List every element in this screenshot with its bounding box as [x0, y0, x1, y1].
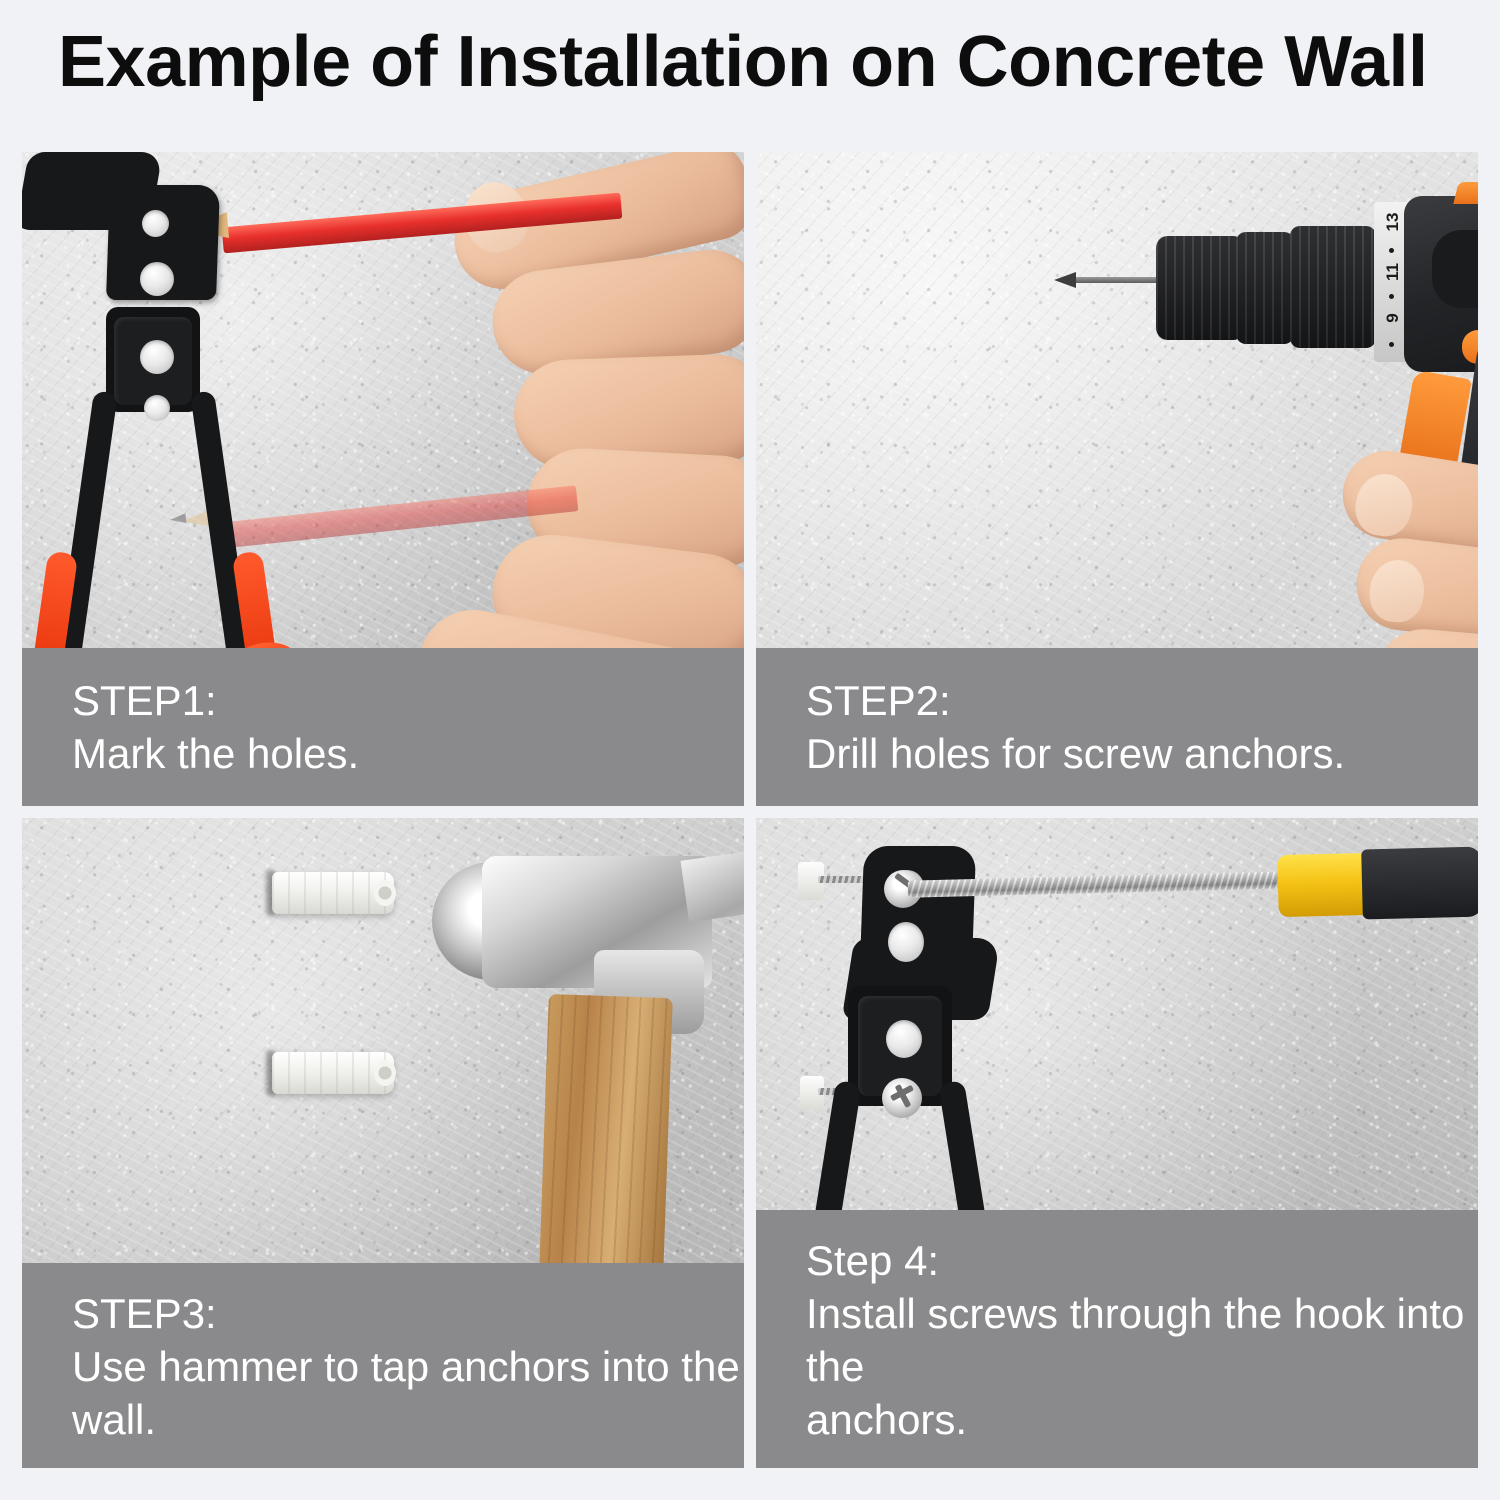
drill-chuck-ring [1236, 232, 1294, 344]
screwdriver-handle-ferrule [1277, 853, 1370, 917]
step-2-label: STEP2: [806, 674, 1478, 727]
step-panel-3: STEP3: Use hammer to tap anchors into th… [22, 818, 744, 1468]
collar-number-9: 9 [1383, 301, 1403, 335]
step-4-text-line-1: Install screws through the hook into the [806, 1287, 1478, 1393]
collar-number-11: 11 [1383, 255, 1403, 289]
step-panel-2: 13 11 9 [756, 152, 1478, 806]
step-3-label: STEP3: [72, 1287, 744, 1340]
step-4-text-line-2: anchors. [806, 1393, 1478, 1446]
step-4-caption: Step 4: Install screws through the hook … [756, 1210, 1478, 1468]
page-title: Example of Installation on Concrete Wall [58, 26, 1428, 98]
collar-number-13: 13 [1383, 205, 1403, 239]
drill-top-orange-accent [1453, 182, 1478, 204]
step-2-caption: STEP2: Drill holes for screw anchors. [756, 648, 1478, 806]
step-1-text: Mark the holes. [72, 727, 744, 780]
step-3-text-line-2: wall. [72, 1393, 744, 1446]
steps-grid: STEP1: Mark the holes. [22, 152, 1478, 1468]
drill-body-panel [1432, 230, 1478, 308]
step-panel-4: Step 4: Install screws through the hook … [756, 818, 1478, 1468]
step-3-text-line-1: Use hammer to tap anchors into the [72, 1340, 744, 1393]
step-1-label: STEP1: [72, 674, 744, 727]
drill-chuck [1156, 236, 1240, 340]
drill-gearbox [1290, 226, 1376, 348]
drill-bit-tip [1054, 272, 1076, 288]
drill-bit [1076, 277, 1162, 283]
step-1-caption: STEP1: Mark the holes. [22, 648, 744, 806]
installation-guide-page: Example of Installation on Concrete Wall [0, 0, 1500, 1500]
step-2-text: Drill holes for screw anchors. [806, 727, 1478, 780]
screwdriver-handle-grip [1361, 847, 1478, 920]
step-4-label: Step 4: [806, 1234, 1478, 1287]
step-panel-1: STEP1: Mark the holes. [22, 152, 744, 806]
step-3-caption: STEP3: Use hammer to tap anchors into th… [22, 1263, 744, 1468]
